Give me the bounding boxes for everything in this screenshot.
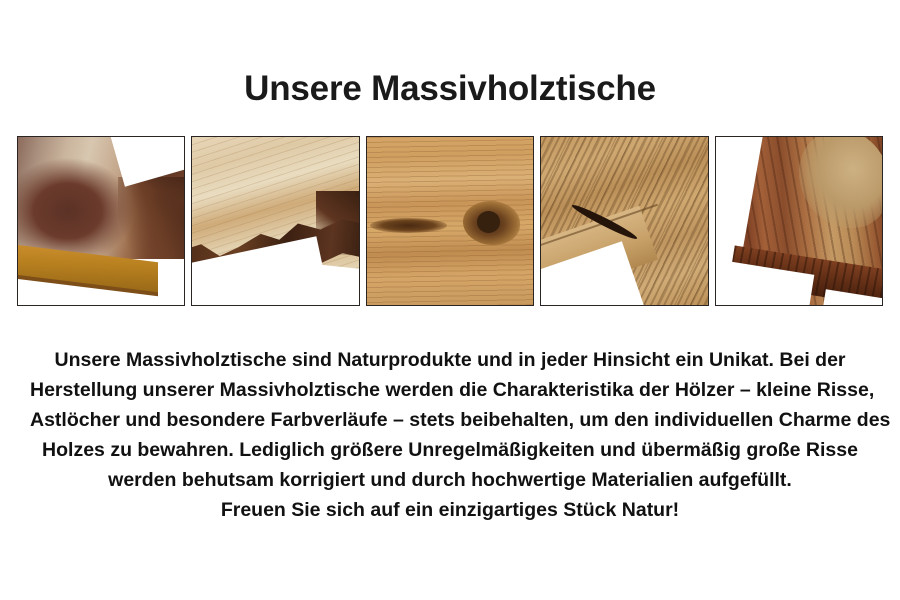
wood-detail-sheesham-corner-image [716, 137, 882, 305]
wood-detail-live-edge-image [192, 137, 358, 305]
wood-detail-saw-marks-image [541, 137, 707, 305]
wood-detail-burl-corner-image [18, 137, 184, 305]
wood-crack [370, 218, 447, 233]
wood-detail-burl-corner [17, 136, 185, 306]
page-title: Unsere Massivholztische [0, 68, 900, 110]
wood-detail-sheesham-corner [715, 136, 883, 306]
wood-detail-saw-marks [540, 136, 708, 306]
wood-detail-knot-grain-image [367, 137, 533, 305]
wood-detail-knot-grain [366, 136, 534, 306]
infographic-page: Unsere Massivholztische [0, 0, 900, 600]
description-line: Holzes zu bewahren. Lediglich größere Un… [30, 435, 870, 465]
description-line: werden behutsam korrigiert und durch hoc… [30, 465, 870, 495]
wood-detail-live-edge [191, 136, 359, 306]
description-paragraph: Unsere Massivholztische sind Naturproduk… [30, 345, 870, 525]
description-line: Freuen Sie sich auf ein einzigartiges St… [30, 495, 870, 525]
background-cut-bottom-right [270, 260, 359, 305]
description-line: Astlöcher und besondere Farbverläufe – s… [30, 405, 870, 435]
wood-knot-core [477, 211, 500, 233]
description-line: Herstellung unserer Massivholztische wer… [30, 375, 870, 405]
wood-detail-gallery [17, 136, 883, 306]
description-line: Unsere Massivholztische sind Naturproduk… [30, 345, 870, 375]
